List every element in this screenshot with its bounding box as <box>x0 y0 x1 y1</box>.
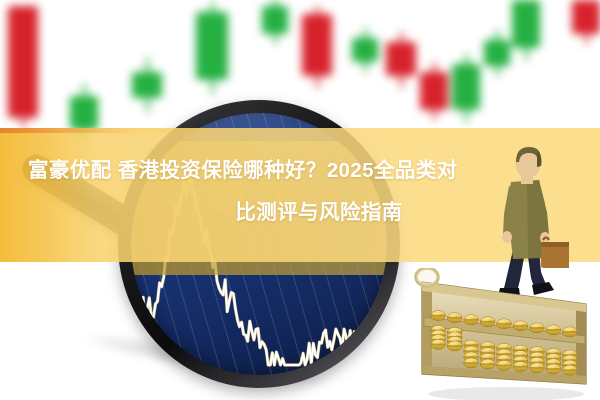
candle-wick-bottom <box>585 34 588 44</box>
abacus-icon <box>400 268 600 400</box>
abacus-bead <box>480 317 495 327</box>
candle-wick-bottom <box>316 76 319 88</box>
candlestick <box>452 64 480 110</box>
abacus-bead <box>497 360 512 370</box>
abacus-bead <box>447 341 462 351</box>
candle-wick-bottom <box>525 48 528 60</box>
candle-wick-top <box>433 62 436 72</box>
candlestick <box>132 72 162 98</box>
candle-body <box>196 12 228 80</box>
candle-wick-bottom <box>22 118 25 128</box>
candle-body <box>452 64 480 110</box>
candle-wick-bottom <box>400 76 403 88</box>
candle-wick-bottom <box>433 110 436 120</box>
hair-side <box>537 152 542 167</box>
candle-wick-top <box>465 54 468 64</box>
candlestick <box>70 96 98 130</box>
abacus-bead <box>464 315 479 325</box>
candlestick <box>302 14 332 76</box>
candle-body <box>512 0 540 48</box>
abacus-bead <box>562 327 577 337</box>
candle-body <box>352 38 378 62</box>
abacus-bead <box>513 321 528 331</box>
candle-wick-bottom <box>364 62 367 72</box>
abacus-bead <box>464 358 479 368</box>
candle-wick-top <box>364 28 367 38</box>
candle-wick-bottom <box>465 110 468 122</box>
candlestick <box>196 12 228 80</box>
candle-wick-top <box>400 32 403 42</box>
candle-body <box>262 6 288 34</box>
abacus-bead <box>530 363 545 373</box>
band-sheen <box>0 128 600 133</box>
candle-wick-bottom <box>496 66 499 76</box>
candle-body <box>572 0 600 34</box>
candlestick <box>420 72 448 110</box>
abacus-bead <box>497 319 512 329</box>
hero-banner: 股市 富豪优配 香港投资保险哪种好？2025全品类对 比测评与风险指南 <box>0 0 600 400</box>
abacus-bead <box>480 359 495 369</box>
candle-body <box>484 40 510 66</box>
abacus-bead <box>530 323 545 333</box>
abacus-bead <box>562 365 577 375</box>
candle-wick-top <box>211 2 214 12</box>
candle-body <box>132 72 162 98</box>
abacus-bead <box>447 313 462 323</box>
candlestick <box>512 0 540 48</box>
briefcase-top <box>541 242 569 247</box>
candlestick <box>386 42 416 76</box>
candlestick <box>262 6 288 34</box>
abacus-bead <box>546 364 561 374</box>
abacus-bead <box>546 325 561 335</box>
candle-body <box>302 14 332 76</box>
candlestick <box>352 38 378 62</box>
abacus-shadow <box>428 387 584 400</box>
abacus-bead <box>431 311 446 321</box>
candle-body <box>8 6 38 118</box>
candle-wick-bottom <box>274 34 277 44</box>
candle-body <box>70 96 98 130</box>
candle-wick-top <box>316 6 319 14</box>
candle-wick-top <box>146 58 149 72</box>
back-hand <box>502 231 512 243</box>
candle-wick-top <box>83 84 86 96</box>
candle-body <box>386 42 416 76</box>
candle-wick-bottom <box>211 80 214 94</box>
candle-body <box>420 72 448 110</box>
candlestick <box>572 0 600 34</box>
abacus-bead <box>513 362 528 372</box>
abacus-bead <box>431 339 446 349</box>
candlestick <box>484 40 510 66</box>
candle-wick-top <box>496 30 499 40</box>
candlestick <box>8 6 38 118</box>
abacus-ring <box>416 268 438 286</box>
